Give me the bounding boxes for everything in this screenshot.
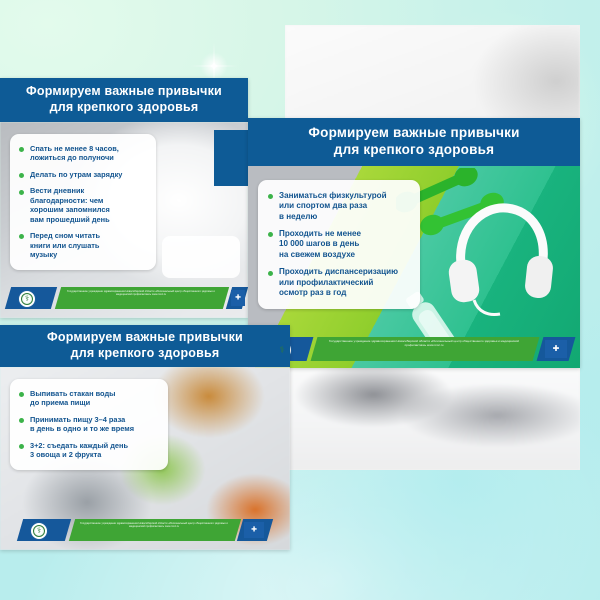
list-item: 3+2: съедать каждый день3 овоща и 2 фрук… — [19, 441, 159, 460]
slide-sleep-footer: ⚕ Государственное учреждение здравоохран… — [0, 284, 248, 312]
ministry-logo: ✚ — [244, 522, 264, 538]
list-item: Выпивать стакан водыдо приема пищи — [19, 389, 159, 408]
slide-fitness-callout: Заниматься физкультуройили спортом два р… — [258, 180, 420, 309]
seal-glyph: ⚕ — [280, 346, 285, 355]
slide-nutrition-bullet-list: Выпивать стакан водыдо приема пищи Прини… — [19, 389, 159, 460]
slide-nutrition-title-line2: для крепкого здоровья — [47, 346, 243, 362]
cross-icon: ✚ — [251, 527, 257, 534]
slide-nutrition-body: Выпивать стакан водыдо приема пищи Прини… — [0, 367, 290, 550]
ministry-logo: ✚ — [545, 340, 567, 358]
slide-nutrition-footer-text: Государственное учреждение здравоохранен… — [76, 522, 232, 539]
slide-fitness-bullet-list: Заниматься физкультуройили спортом два р… — [268, 191, 410, 298]
health-center-seal: ⚕ — [18, 290, 36, 308]
list-item: Вести дневникблагодарности: чемхорошим з… — [19, 186, 147, 224]
list-item: Проходить не менее10 000 шагов в деньна … — [268, 229, 410, 260]
cross-icon: ✚ — [235, 295, 241, 302]
slides-collage: Спать не менее 8 часов,ложиться до полун… — [0, 0, 600, 600]
list-item: Заниматься физкультуройили спортом два р… — [268, 191, 410, 222]
slide-sleep-callout: Спать не менее 8 часов,ложиться до полун… — [10, 134, 156, 270]
slide-sleep-bullet-list: Спать не менее 8 часов,ложиться до полун… — [19, 144, 147, 260]
slide-sleep-accent-block — [214, 130, 248, 186]
slide-sleep[interactable]: Спать не менее 8 часов,ложиться до полун… — [0, 78, 248, 318]
slide-sleep-body: Спать не менее 8 часов,ложиться до полун… — [0, 122, 248, 318]
list-item: Спать не менее 8 часов,ложиться до полун… — [19, 144, 147, 163]
slide-nutrition-title: Формируем важные привычки для крепкого з… — [0, 325, 290, 367]
slide-fitness-title-line1: Формируем важные привычки — [308, 125, 519, 142]
list-item: Перед сном читатькниги или слушатьмузыку — [19, 231, 147, 259]
slide-sleep-title-line2: для крепкого здоровья — [26, 100, 222, 116]
slide-fitness-title-line2: для крепкого здоровья — [308, 142, 519, 159]
slide-fitness[interactable]: Заниматься физкультуройили спортом два р… — [248, 118, 580, 368]
seal-glyph: ⚕ — [25, 295, 29, 303]
slide-fitness-title: Формируем важные привычки для крепкого з… — [248, 118, 580, 166]
slide-nutrition-callout: Выпивать стакан водыдо приема пищи Прини… — [10, 379, 168, 470]
list-item: Проходить диспансеризациюили профилактич… — [268, 267, 410, 298]
slide-nutrition[interactable]: Выпивать стакан водыдо приема пищи Прини… — [0, 325, 290, 550]
slide-fitness-footer-text: Государственное учреждение здравоохранен… — [320, 340, 528, 359]
slide-nutrition-title-line1: Формируем важные привычки — [47, 330, 243, 346]
slide-sleep-secondary-callout — [162, 236, 240, 278]
ministry-logo: ✚ — [231, 290, 245, 306]
slide-sleep-title: Формируем важные привычки для крепкого з… — [0, 78, 248, 122]
slide-sleep-title-line1: Формируем важные привычки — [26, 84, 222, 100]
list-item: Делать по утрам зарядку — [19, 170, 147, 179]
slide-sleep-footer-text: Государственное учреждение здравоохранен… — [62, 290, 220, 307]
slide-fitness-body: Заниматься физкультуройили спортом два р… — [248, 166, 580, 368]
slide-fitness-footer: ⚕ Государственное учреждение здравоохран… — [248, 334, 580, 364]
slide-nutrition-footer: ⚕ Государственное учреждение здравоохран… — [0, 516, 290, 544]
list-item: Принимать пищу 3–4 разав день в одно и т… — [19, 415, 159, 434]
seal-glyph: ⚕ — [37, 527, 41, 535]
cross-icon: ✚ — [553, 345, 560, 353]
health-center-seal: ⚕ — [30, 522, 48, 540]
